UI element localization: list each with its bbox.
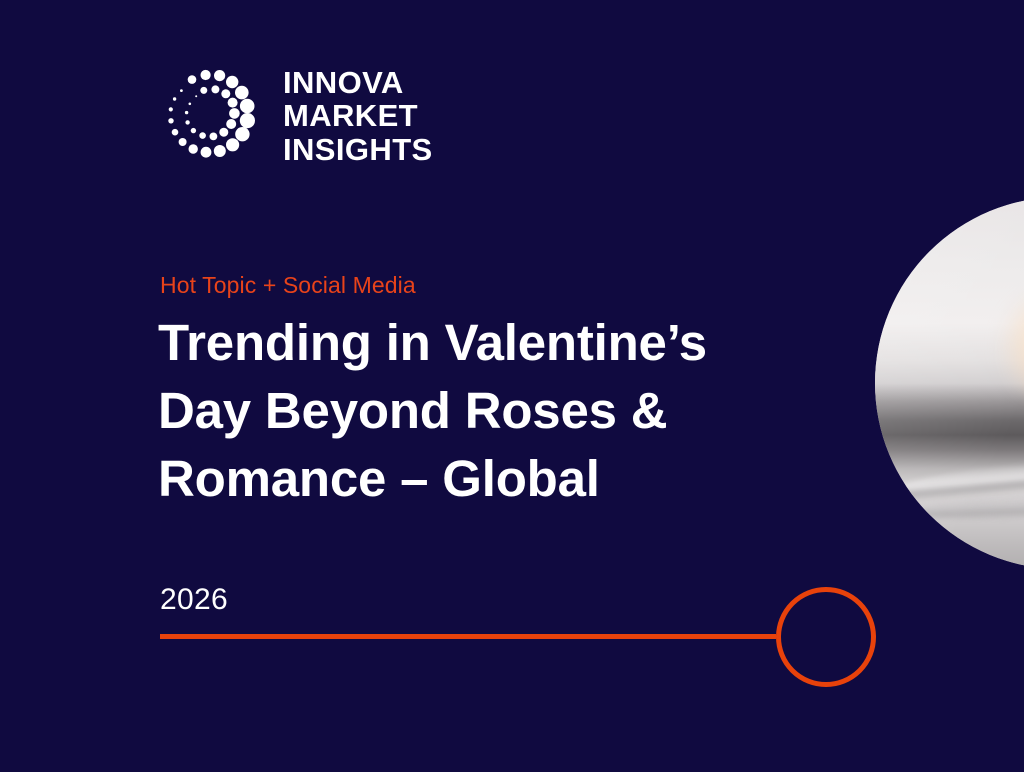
orange-horizontal-rule <box>160 634 776 639</box>
brand-wordmark-line-1: INNOVA <box>283 66 433 99</box>
brand-wordmark-line-3: INSIGHTS <box>283 133 433 166</box>
cover-title-line-2: Day Beyond Roses & <box>158 377 858 445</box>
brand-wordmark-line-2: MARKET <box>283 99 433 132</box>
photo-sheen-overlay <box>875 197 1024 569</box>
cover-title: Trending in Valentine’s Day Beyond Roses… <box>158 309 858 512</box>
orange-circle-outline <box>776 587 876 687</box>
cover-year: 2026 <box>160 583 228 617</box>
cover-eyebrow-label: Hot Topic + Social Media <box>160 272 416 299</box>
cover-title-line-1: Trending in Valentine’s <box>158 309 858 377</box>
brand-wordmark: INNOVA MARKET INSIGHTS <box>283 66 433 165</box>
cover-title-line-3: Romance – Global <box>158 445 858 513</box>
cover-photo-circle <box>875 197 1024 569</box>
report-cover-slide: INNOVA MARKET INSIGHTS Hot Topic + Socia… <box>0 0 1024 772</box>
innova-spiral-dots-logo-icon <box>158 62 266 170</box>
brand-logo: INNOVA MARKET INSIGHTS <box>158 62 433 170</box>
